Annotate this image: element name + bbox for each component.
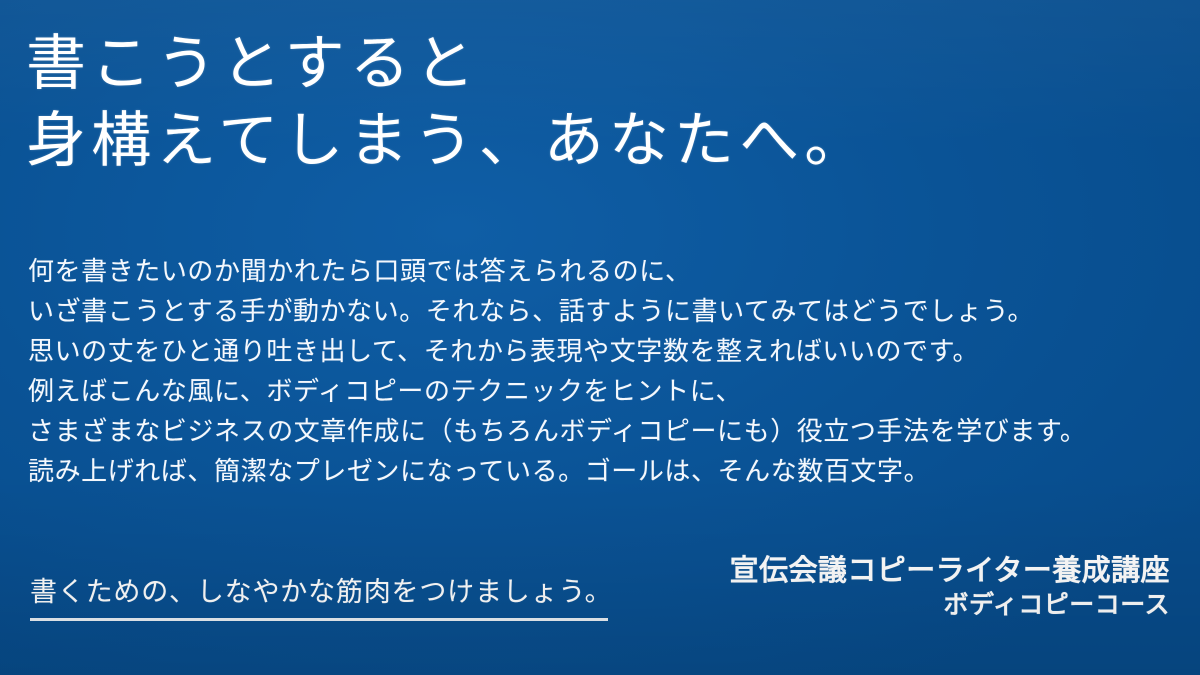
poster-footer: 書くための、しなやかな筋肉をつけましょう。 宣伝会議コピーライター養成講座 ボデ… — [0, 543, 1200, 629]
body-copy-line-1: 何を書きたいのか聞かれたら口頭では答えられるのに、 — [28, 252, 1178, 292]
course-title: 宣伝会議コピーライター養成講座 — [730, 553, 1170, 587]
course-identity-block: 宣伝会議コピーライター養成講座 ボディコピーコース — [730, 553, 1170, 629]
poster-canvas: 書こうとすると 身構えてしまう、あなたへ。 何を書きたいのか聞かれたら口頭では答… — [0, 0, 1200, 675]
body-copy-block: 何を書きたいのか聞かれたら口頭では答えられるのに、 いざ書こうとする手が動かない… — [28, 252, 1178, 492]
body-copy-line-2: いざ書こうとする手が動かない。それなら、話すように書いてみてはどうでしょう。 — [28, 292, 1178, 332]
body-copy-line-3: 思いの丈をひと通り吐き出して、それから表現や文字数を整えればいいのです。 — [28, 332, 1178, 372]
body-copy-line-5: さまざまなビジネスの文章作成に（もちろんボディコピーにも）役立つ手法を学びます。 — [28, 412, 1178, 452]
course-subtitle: ボディコピーコース — [730, 590, 1170, 620]
tagline-underline-rule — [30, 618, 608, 621]
headline-line-1: 書こうとすると — [26, 34, 1166, 95]
body-copy-line-4: 例えばこんな風に、ボディコピーのテクニックをヒントに、 — [28, 372, 1178, 412]
tagline-text: 書くための、しなやかな筋肉をつけましょう。 — [30, 576, 612, 610]
poster-content: 書こうとすると 身構えてしまう、あなたへ。 何を書きたいのか聞かれたら口頭では答… — [0, 0, 1200, 675]
tagline-block: 書くための、しなやかな筋肉をつけましょう。 — [30, 576, 612, 629]
body-copy-line-6: 読み上げれば、簡潔なプレゼンになっている。ゴールは、そんな数百文字。 — [28, 452, 1178, 492]
headline-block: 書こうとすると 身構えてしまう、あなたへ。 — [26, 34, 1166, 172]
headline-line-2: 身構えてしまう、あなたへ。 — [26, 111, 1166, 172]
